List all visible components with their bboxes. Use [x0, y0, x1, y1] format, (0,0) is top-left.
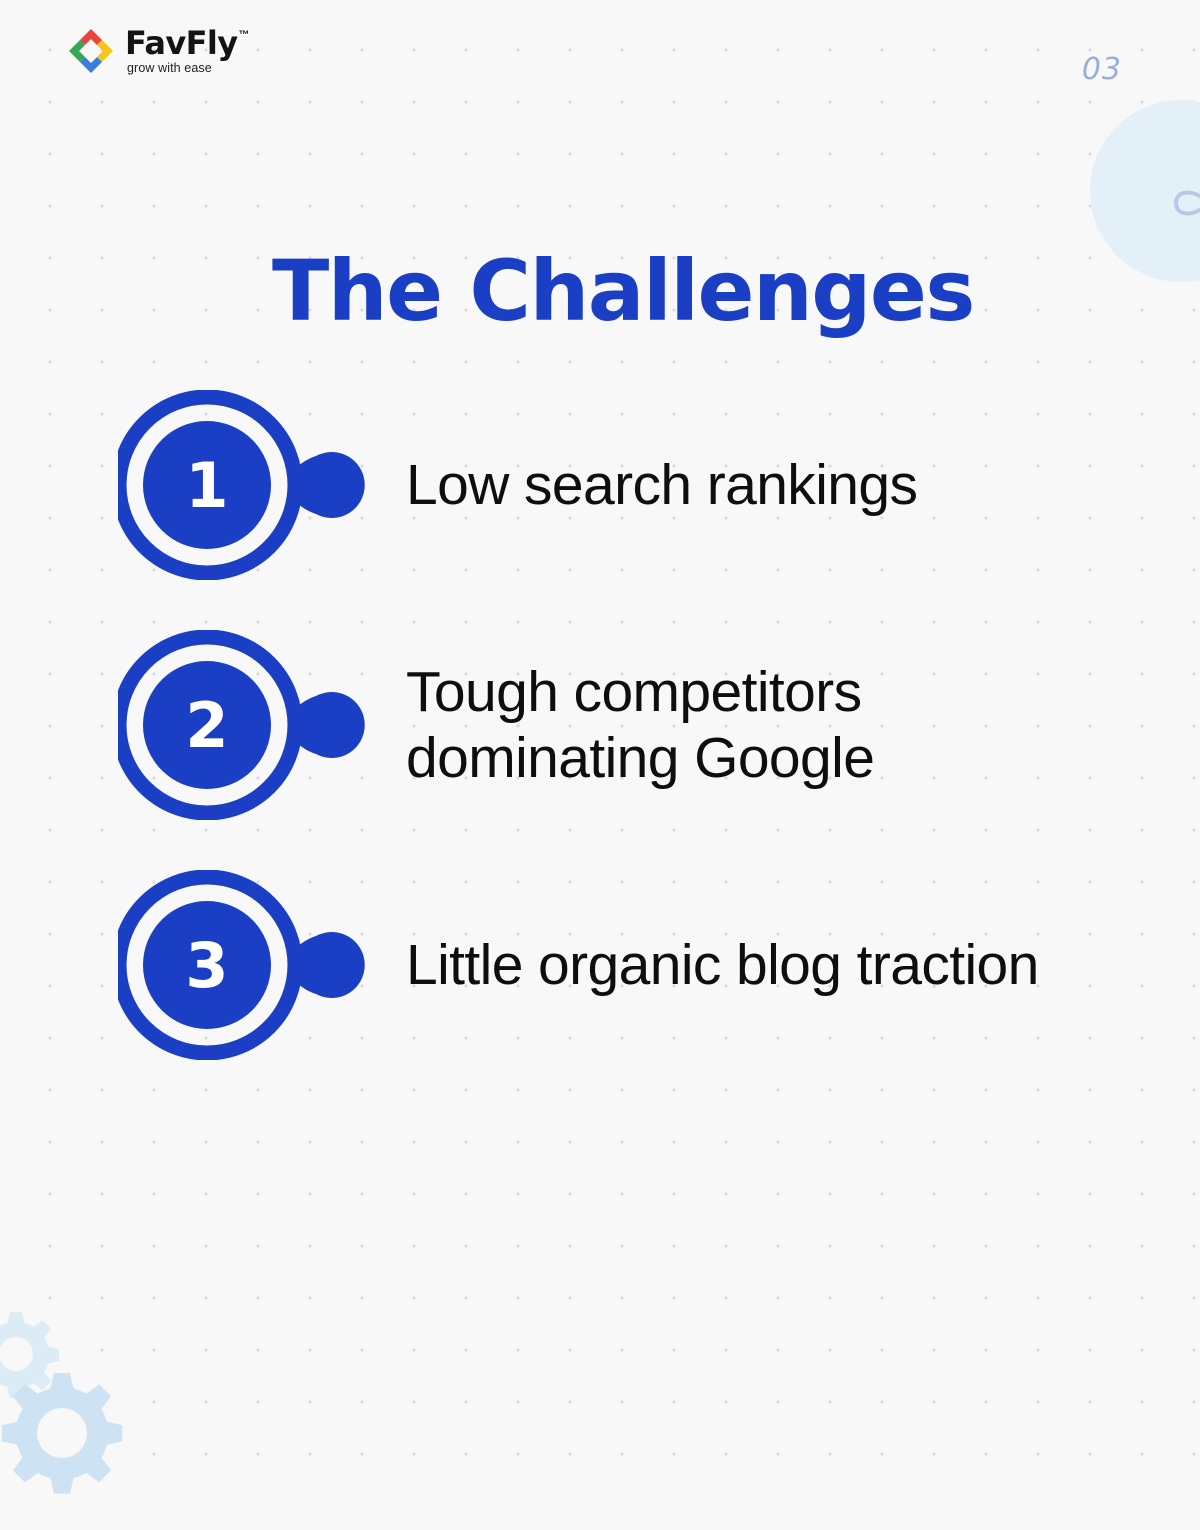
brand-logo[interactable]: FavFly ™ grow with ease: [66, 26, 250, 76]
favfly-logo-icon: [66, 26, 116, 76]
page-number: 03: [1082, 52, 1122, 87]
challenge-text: Little organic blog traction: [406, 932, 1039, 998]
page-title: The Challenges: [272, 242, 974, 340]
infinity-icon: [1148, 175, 1200, 231]
gears-decoration: [0, 1300, 188, 1530]
brand-text: FavFly ™ grow with ease: [125, 27, 250, 75]
list-item: 3 Little organic blog traction: [118, 865, 1118, 1065]
challenge-list: 1 Low search rankings 2 Tough competitor…: [118, 385, 1118, 1105]
numbered-badge-icon: 2: [118, 630, 406, 820]
list-item: 1 Low search rankings: [118, 385, 1118, 585]
decorative-circle: [1090, 100, 1200, 282]
numbered-badge-icon: 1: [118, 390, 406, 580]
numbered-badge-icon: 3: [118, 870, 406, 1060]
challenge-text: Low search rankings: [406, 452, 917, 518]
list-item: 2 Tough competitors dominating Google: [118, 625, 1118, 825]
brand-tagline: grow with ease: [127, 62, 250, 75]
challenge-text: Tough competitors dominating Google: [406, 659, 1106, 791]
brand-wordmark: FavFly: [125, 27, 238, 59]
trademark-symbol: ™: [239, 30, 250, 41]
